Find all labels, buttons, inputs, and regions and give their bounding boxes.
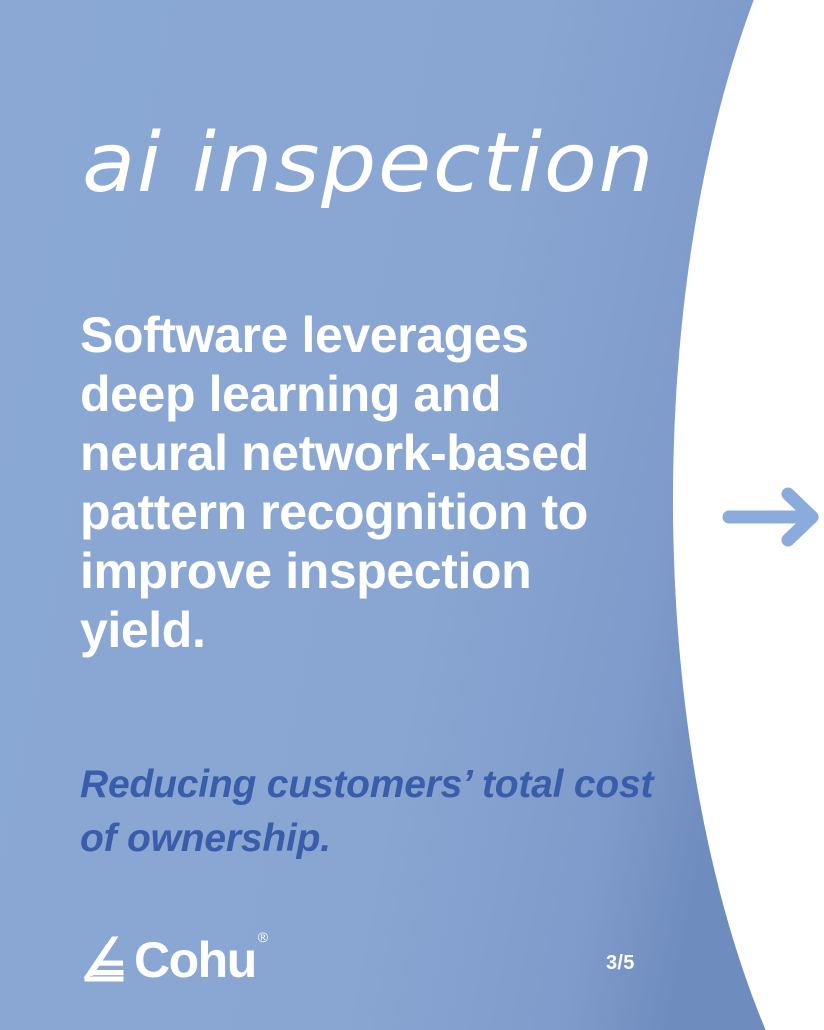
cohu-wordmark: Cohu [134,935,256,985]
subheadline-text: Reducing customers’ total cost of owners… [80,758,660,866]
headline-text: Software leverages deep learning and neu… [80,306,592,660]
page-indicator: 3/5 [606,952,635,975]
registered-trademark-icon: ® [258,929,268,945]
cohu-triangle-mark-icon [76,936,128,982]
cohu-logo: Cohu ® [76,932,266,986]
arrow-right-icon[interactable] [720,482,824,552]
slide-title: ai inspection [82,118,760,210]
slide-canvas: ai inspection Software leverages deep le… [0,0,824,1030]
